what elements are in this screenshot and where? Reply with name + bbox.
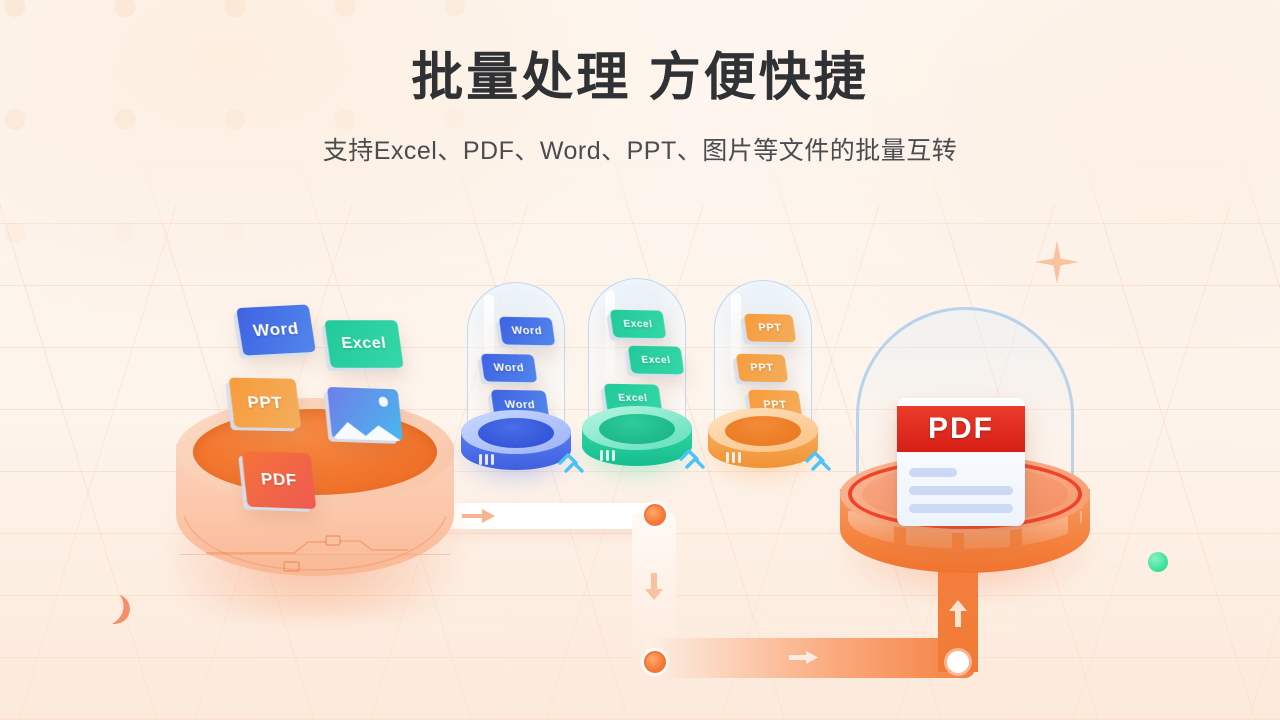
sun-icon bbox=[379, 397, 388, 407]
capsule-card-excel-2: Excel bbox=[628, 346, 685, 375]
capsule-indicator-lights bbox=[479, 454, 494, 465]
capsule-base-hole bbox=[725, 416, 801, 446]
file-card-pdf: PDF bbox=[242, 451, 316, 509]
ppt-capsule: PPT PPT PPT bbox=[714, 280, 812, 476]
arrow-up-icon bbox=[948, 600, 968, 628]
pdf-text-line bbox=[909, 504, 1013, 513]
arrow-down-icon bbox=[644, 573, 664, 601]
pdf-label: PDF bbox=[897, 406, 1025, 452]
page-title: 批量处理 方便快捷 bbox=[0, 48, 1280, 109]
capsule-base bbox=[461, 410, 571, 482]
capsule-card-word-1: Word bbox=[499, 317, 556, 346]
word-capsule: Word Word Word bbox=[467, 282, 565, 478]
capsule-card-ppt-1: PPT bbox=[744, 314, 796, 343]
green-dot-icon bbox=[1148, 552, 1168, 572]
header: 批量处理 方便快捷 支持Excel、PDF、Word、PPT、图片等文件的批量互… bbox=[0, 48, 1280, 167]
file-card-ppt: PPT bbox=[229, 378, 302, 429]
file-card-image bbox=[327, 387, 403, 441]
conveyor-node-3 bbox=[947, 651, 969, 673]
capsule-indicator-lights bbox=[726, 452, 741, 463]
arrow-right-icon-2 bbox=[789, 650, 819, 665]
capsule-card-word-2: Word bbox=[481, 354, 538, 383]
pdf-text-line bbox=[909, 486, 1013, 495]
capsule-base-hole bbox=[478, 418, 554, 448]
mountain-icon bbox=[327, 413, 403, 441]
image-thumbnail-icon bbox=[327, 387, 403, 441]
capsule-base bbox=[582, 406, 692, 478]
pdf-document-icon: PDF bbox=[897, 398, 1025, 526]
capsule-card-excel-1: Excel bbox=[610, 310, 667, 339]
capsule-base-hole bbox=[599, 414, 675, 444]
promo-banner: 批量处理 方便快捷 支持Excel、PDF、Word、PPT、图片等文件的批量互… bbox=[0, 0, 1280, 720]
capsule-card-ppt-2: PPT bbox=[736, 354, 788, 383]
page-subtitle: 支持Excel、PDF、Word、PPT、图片等文件的批量互转 bbox=[0, 131, 1280, 167]
conveyor-node-1 bbox=[644, 504, 666, 526]
capsule-indicator-lights bbox=[600, 450, 615, 461]
chevron-up-icon-3 bbox=[804, 448, 832, 479]
conveyor-node-2 bbox=[644, 651, 666, 673]
excel-capsule: Excel Excel Excel bbox=[588, 278, 686, 474]
capsule-base bbox=[708, 408, 818, 480]
file-card-excel: Excel bbox=[324, 320, 403, 368]
file-card-word: Word bbox=[236, 304, 316, 355]
pdf-text-line bbox=[909, 468, 957, 477]
